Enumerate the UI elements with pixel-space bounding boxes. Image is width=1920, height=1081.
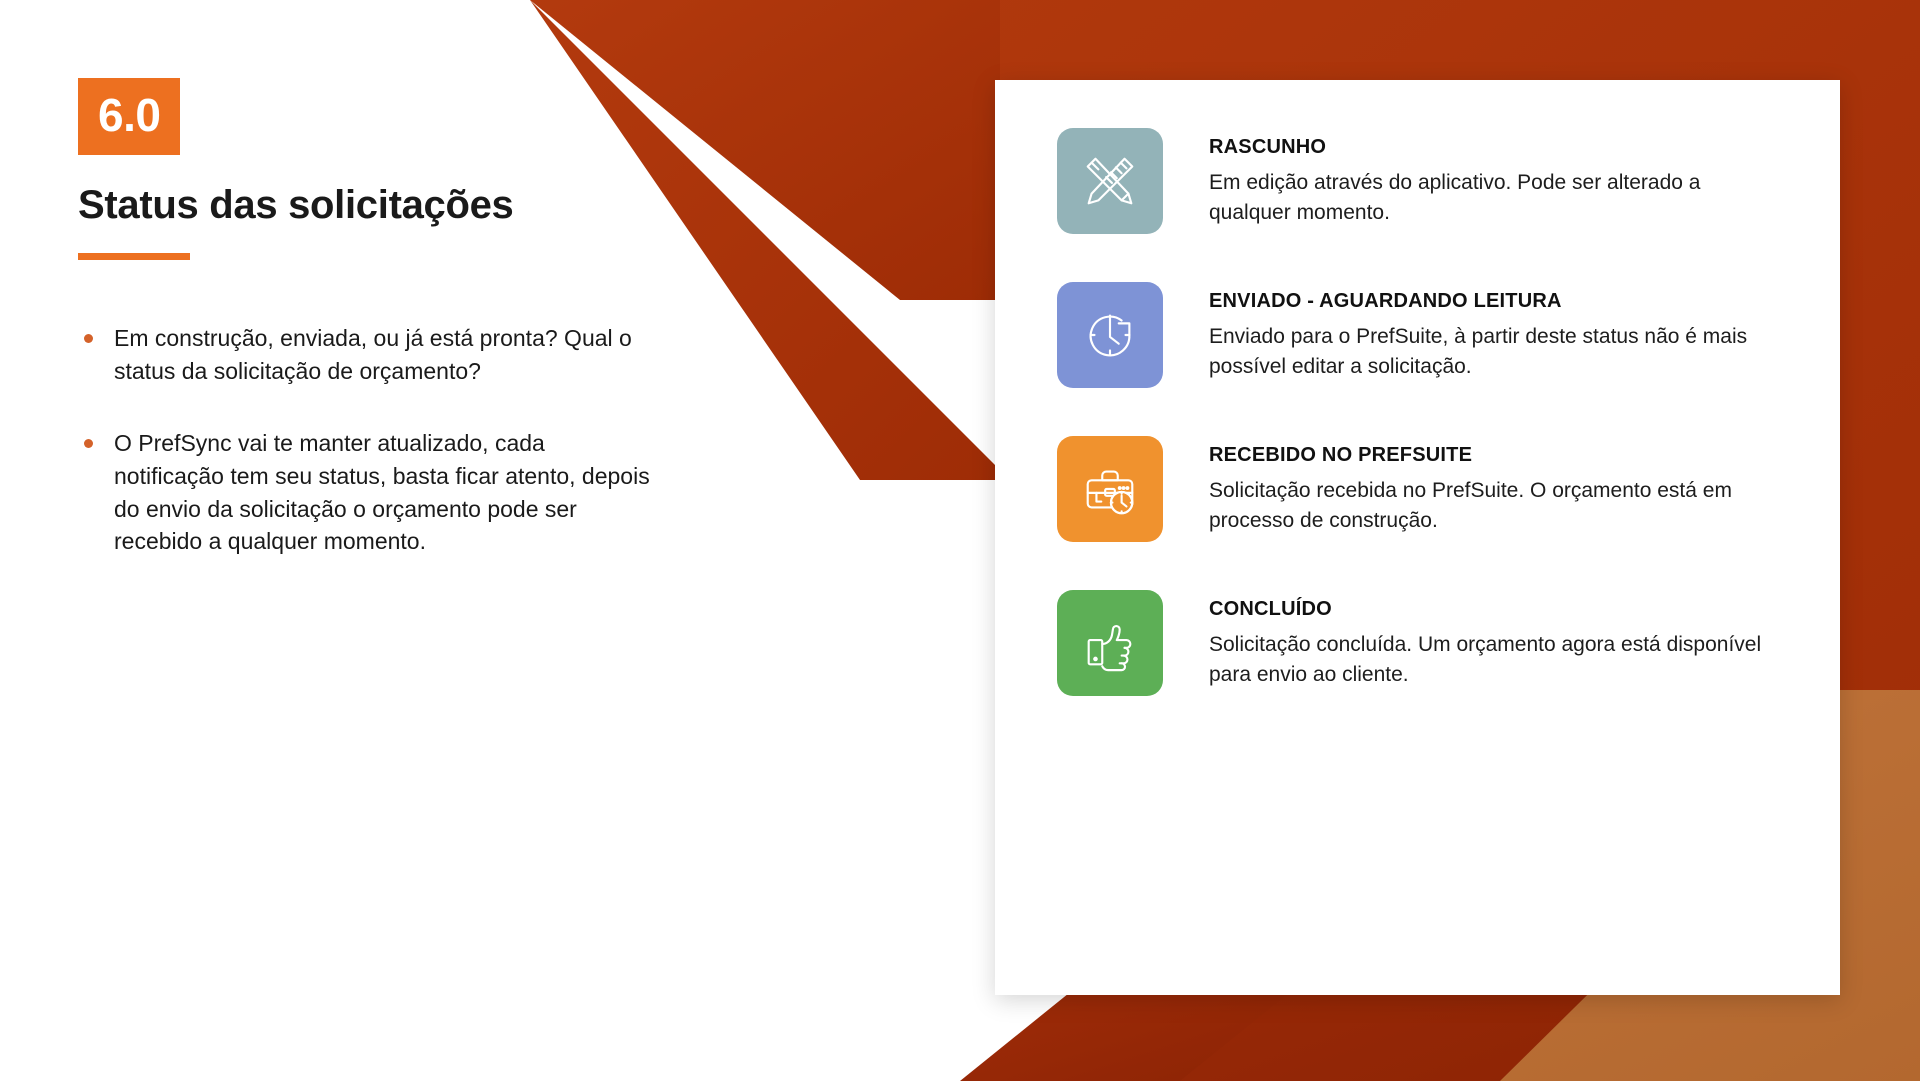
clock-arrow-icon — [1057, 282, 1163, 388]
bullet-text: O PrefSync vai te manter atualizado, cad… — [114, 430, 650, 554]
status-row-concluido: CONCLUÍDO Solicitação concluída. Um orça… — [1057, 590, 1780, 696]
status-title: CONCLUÍDO — [1209, 598, 1769, 621]
status-row-enviado: ENVIADO - AGUARDANDO LEITURA Enviado par… — [1057, 282, 1780, 388]
page-title: Status das solicitações — [78, 183, 758, 227]
pencil-ruler-icon — [1057, 128, 1163, 234]
bullet-list: Em construção, enviada, ou já está pront… — [78, 322, 758, 558]
status-title: ENVIADO - AGUARDANDO LEITURA — [1209, 290, 1769, 313]
status-description: Solicitação recebida no PrefSuite. O orç… — [1209, 476, 1769, 536]
bullet-text: Em construção, enviada, ou já está pront… — [114, 325, 632, 384]
status-row-rascunho: RASCUNHO Em edição através do aplicativo… — [1057, 128, 1780, 234]
status-title: RASCUNHO — [1209, 136, 1769, 159]
status-text-block: ENVIADO - AGUARDANDO LEITURA Enviado par… — [1209, 282, 1769, 382]
bullet-dot-icon — [84, 439, 93, 448]
status-description: Em edição através do aplicativo. Pode se… — [1209, 168, 1769, 228]
status-text-block: RECEBIDO NO PREFSUITE Solicitação recebi… — [1209, 436, 1769, 536]
list-item: Em construção, enviada, ou já está pront… — [78, 322, 658, 387]
title-underline-rule — [78, 253, 190, 260]
thumbs-up-icon — [1057, 590, 1163, 696]
section-number-badge: 6.0 — [78, 78, 180, 155]
status-text-block: RASCUNHO Em edição através do aplicativo… — [1209, 128, 1769, 228]
status-title: RECEBIDO NO PREFSUITE — [1209, 444, 1769, 467]
status-text-block: CONCLUÍDO Solicitação concluída. Um orça… — [1209, 590, 1769, 690]
status-legend-card: RASCUNHO Em edição através do aplicativo… — [995, 80, 1840, 995]
list-item: O PrefSync vai te manter atualizado, cad… — [78, 427, 658, 558]
status-description: Enviado para o PrefSuite, à partir deste… — [1209, 322, 1769, 382]
bullet-dot-icon — [84, 334, 93, 343]
slide-left-column: 6.0 Status das solicitações Em construçã… — [78, 78, 758, 598]
status-description: Solicitação concluída. Um orçamento agor… — [1209, 630, 1769, 690]
status-row-recebido: RECEBIDO NO PREFSUITE Solicitação recebi… — [1057, 436, 1780, 542]
briefcase-clock-icon — [1057, 436, 1163, 542]
